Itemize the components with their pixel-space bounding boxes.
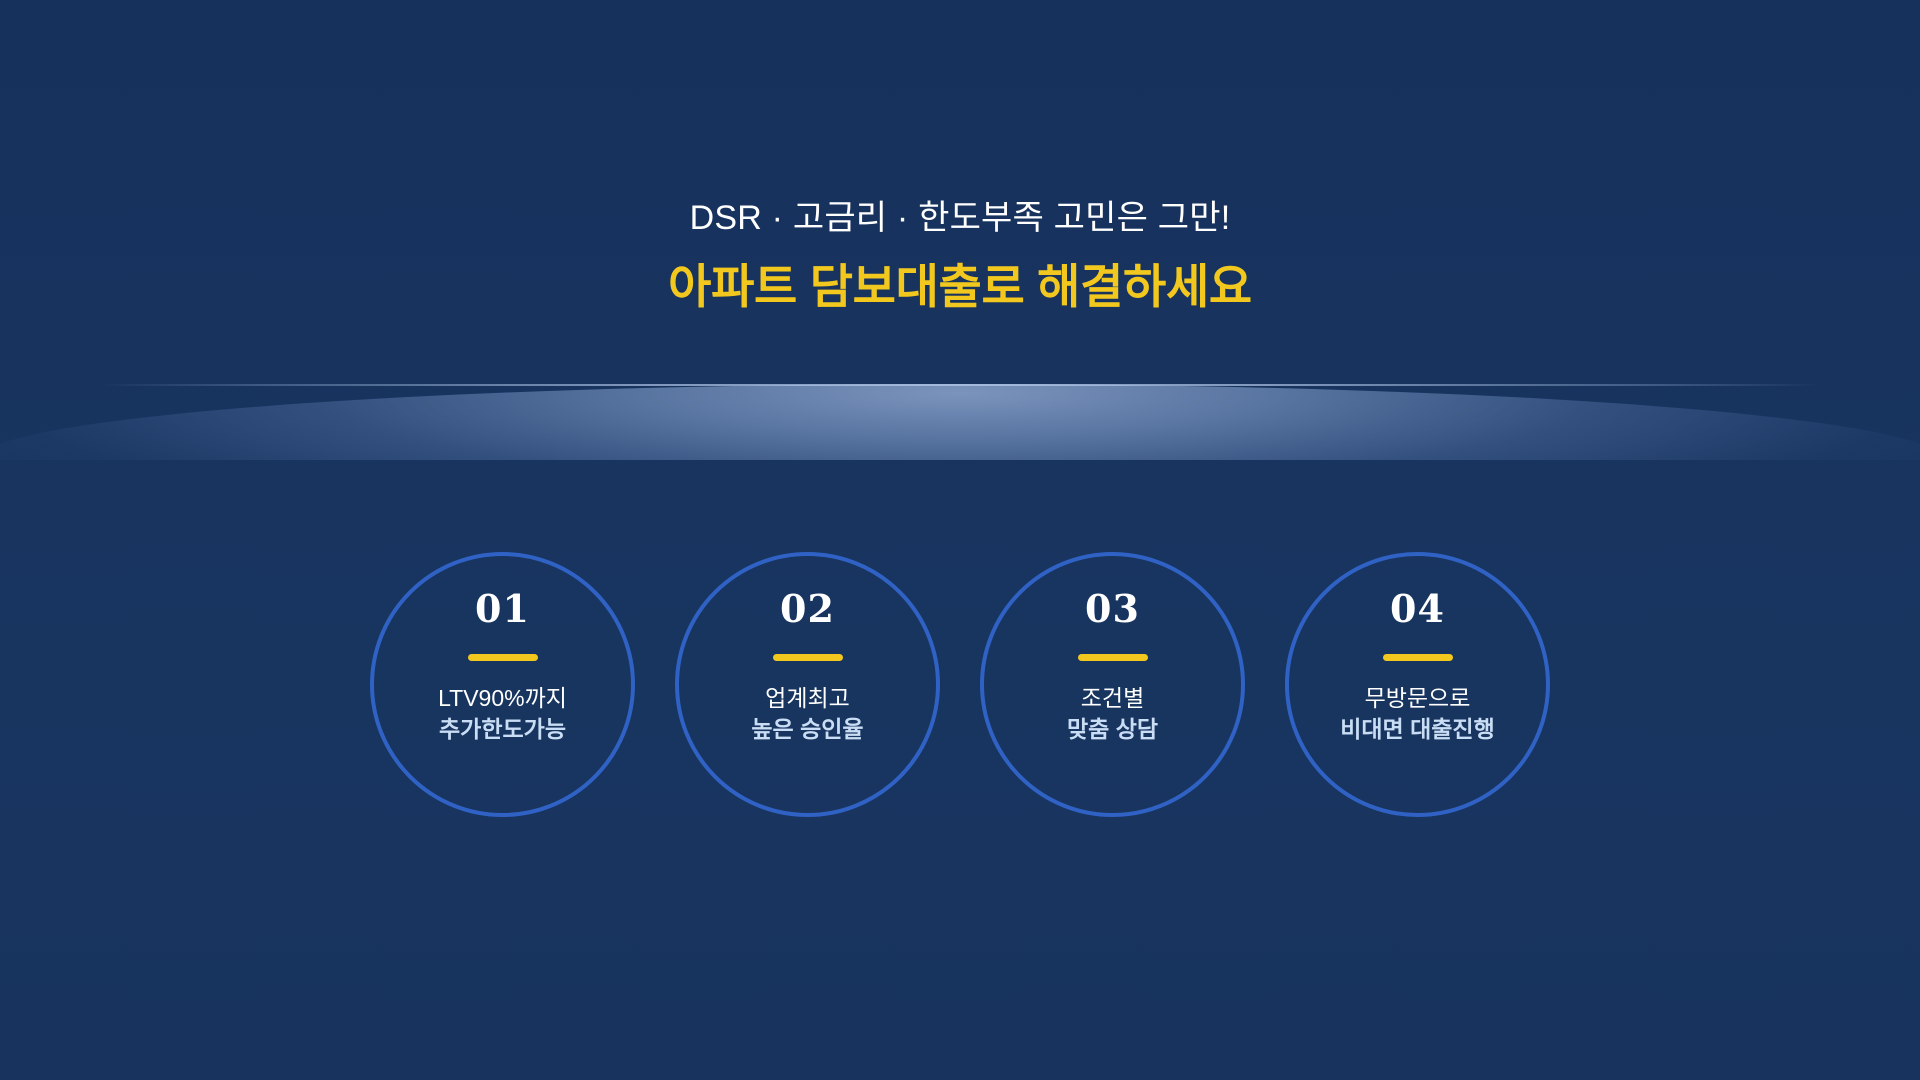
feature-line-2: 비대면 대출진행: [1340, 714, 1495, 745]
headline-block: DSR · 고금리 · 한도부족 고민은 그만! 아파트 담보대출로 해결하세요: [0, 196, 1920, 316]
feature-text: 무방문으로 비대면 대출진행: [1340, 683, 1495, 745]
feature-circle-04[interactable]: 04 무방문으로 비대면 대출진행: [1285, 552, 1550, 817]
feature-circle-01[interactable]: 01 LTV90%까지 추가한도가능: [370, 552, 635, 817]
feature-line-1: LTV90%까지: [438, 683, 567, 714]
glow-ellipse: [0, 384, 1920, 460]
feature-line-1: 조건별: [1067, 683, 1158, 714]
feature-circle-03[interactable]: 03 조건별 맞춤 상담: [980, 552, 1245, 817]
feature-text: 조건별 맞춤 상담: [1067, 683, 1158, 745]
feature-text: 업계최고 높은 승인율: [751, 683, 863, 745]
feature-line-2: 추가한도가능: [438, 714, 567, 745]
banner-title: 아파트 담보대출로 해결하세요: [0, 258, 1920, 316]
promo-banner: DSR · 고금리 · 한도부족 고민은 그만! 아파트 담보대출로 해결하세요…: [0, 0, 1920, 1080]
feature-line-2: 높은 승인율: [751, 714, 863, 745]
feature-divider-bar: [1383, 654, 1453, 661]
feature-divider-bar: [468, 654, 538, 661]
feature-circles-row: 01 LTV90%까지 추가한도가능 02 업계최고 높은 승인율 03 조건별…: [370, 552, 1550, 822]
feature-line-1: 업계최고: [751, 683, 863, 714]
feature-text: LTV90%까지 추가한도가능: [438, 683, 567, 745]
feature-number: 01: [475, 588, 530, 630]
feature-line-2: 맞춤 상담: [1067, 714, 1158, 745]
feature-number: 04: [1390, 588, 1445, 630]
feature-circle-02[interactable]: 02 업계최고 높은 승인율: [675, 552, 940, 817]
background-gradient: [0, 0, 1920, 1080]
feature-number: 03: [1085, 588, 1140, 630]
banner-subtitle: DSR · 고금리 · 한도부족 고민은 그만!: [0, 196, 1920, 240]
feature-line-1: 무방문으로: [1340, 683, 1495, 714]
feature-number: 02: [780, 588, 835, 630]
glow-highlight-line: [100, 384, 1820, 386]
glow-shelf: [0, 330, 1920, 460]
feature-divider-bar: [773, 654, 843, 661]
feature-divider-bar: [1078, 654, 1148, 661]
